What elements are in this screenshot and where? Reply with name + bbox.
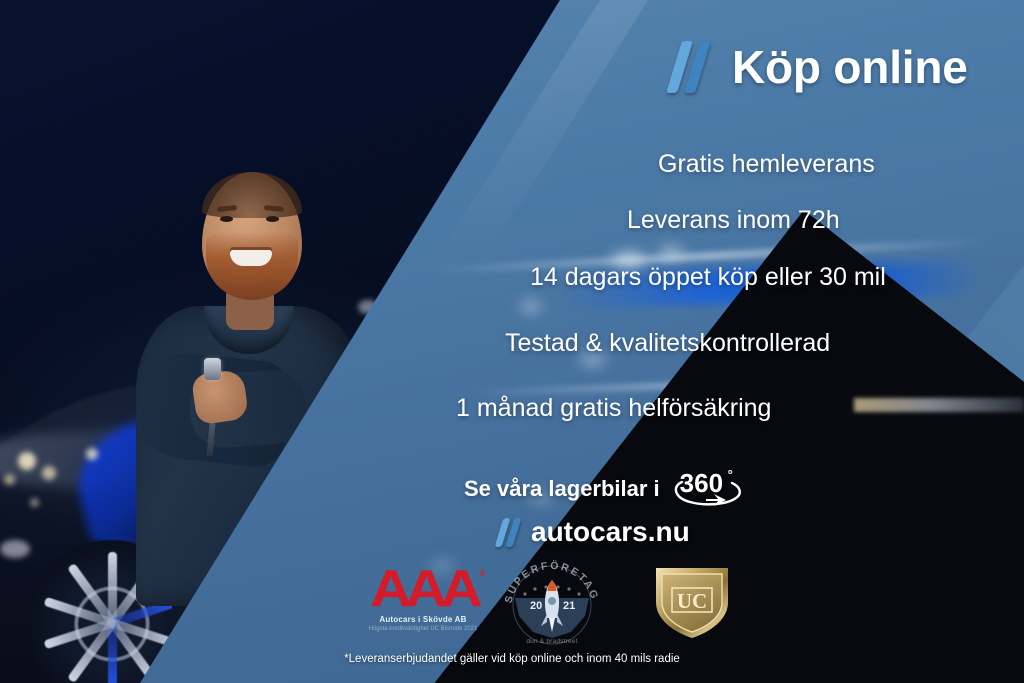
- advertisement-banner: Köp online Gratis hemleverans Leverans i…: [0, 0, 1024, 683]
- benefit-item: Testad & kvalitetskontrollerad: [505, 329, 830, 358]
- partner-logos: AAA ® Autocars i Skövde AB Högsta kredit…: [360, 558, 740, 646]
- benefit-item: Leverans inom 72h: [627, 206, 840, 235]
- benefit-item: 1 månad gratis helförsäkring: [456, 394, 771, 423]
- superforetag-footer: dun & bradstreet: [497, 638, 607, 645]
- superforetag-logo: SUPERFÖRETAG 20 21: [497, 558, 607, 646]
- headline-row: Köp online: [672, 40, 968, 94]
- double-slash-icon: [498, 517, 524, 547]
- aaa-mark: AAA: [356, 566, 490, 613]
- aaa-credit-rating-logo: AAA ® Autocars i Skövde AB Högsta kredit…: [363, 566, 483, 633]
- benefit-item: 14 dagars öppet köp eller 30 mil: [530, 263, 886, 292]
- cta-lead-text: Se våra lagerbilar i: [464, 476, 660, 502]
- badge-degree-symbol: °: [728, 468, 733, 481]
- benefit-item: Gratis hemleverans: [658, 150, 875, 179]
- rotate-360-icon: 360 °: [670, 468, 744, 510]
- page-title: Köp online: [732, 44, 968, 90]
- badge-number: 360: [680, 470, 723, 496]
- uc-mark: UC: [677, 589, 707, 613]
- superforetag-year-right: 21: [563, 600, 575, 612]
- disclaimer-text: *Leveranserbjudandet gäller vid köp onli…: [0, 653, 1024, 665]
- site-line[interactable]: autocars.nu: [498, 516, 744, 548]
- aaa-subtitle: Högsta kreditvärdighet UC Bisnode 2021: [363, 625, 483, 633]
- banner-content: Köp online Gratis hemleverans Leverans i…: [0, 0, 1024, 683]
- cta-lead-line: Se våra lagerbilar i 360 °: [464, 468, 744, 510]
- registered-trademark-icon: ®: [480, 568, 486, 578]
- cta-block[interactable]: Se våra lagerbilar i 360 ° autocars.nu: [464, 468, 744, 548]
- site-url[interactable]: autocars.nu: [531, 516, 690, 548]
- double-slash-icon: [672, 40, 714, 94]
- uc-logo: UC: [650, 562, 734, 642]
- superforetag-year-left: 20: [530, 600, 542, 612]
